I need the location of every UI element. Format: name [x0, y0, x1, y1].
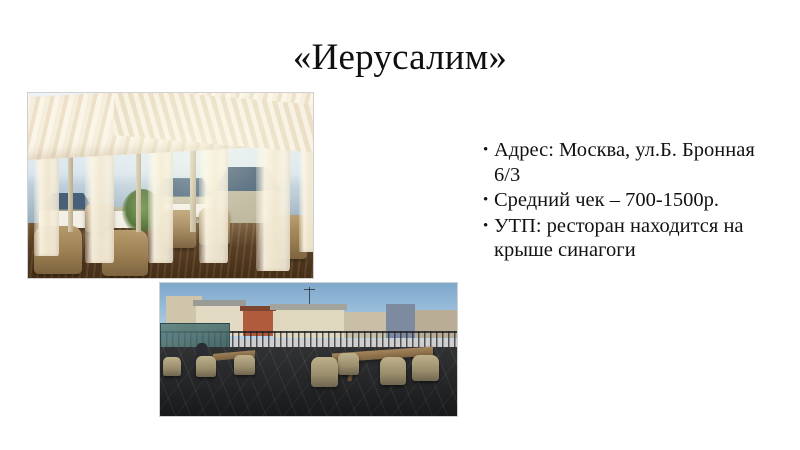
content-text-block: Адрес: Москва, ул.Б. Бронная 6/3 Средний… [483, 138, 783, 264]
terrace-antenna [309, 287, 310, 306]
slide: «Иерусалим» [0, 0, 800, 450]
page-title: «Иерусалим» [0, 36, 800, 80]
restaurant-interior-photo [28, 93, 313, 278]
terrace-chair [311, 357, 338, 386]
terrace-chair [380, 357, 407, 385]
bullet-usp: УТП: ресторан находится на крыше синагог… [483, 214, 783, 263]
terrace-chair [234, 355, 255, 375]
terrace-chair [412, 355, 439, 382]
rooftop-terrace-photo [160, 283, 457, 416]
terrace-chair [338, 353, 359, 374]
terrace-building-roof [270, 304, 347, 309]
terrace-chair [163, 357, 181, 376]
terrace-building-roof [193, 300, 246, 305]
bullet-address: Адрес: Москва, ул.Б. Бронная 6/3 [483, 138, 783, 187]
terrace-chair [196, 356, 217, 377]
bullet-average-check: Средний чек – 700-1500р. [483, 188, 783, 213]
